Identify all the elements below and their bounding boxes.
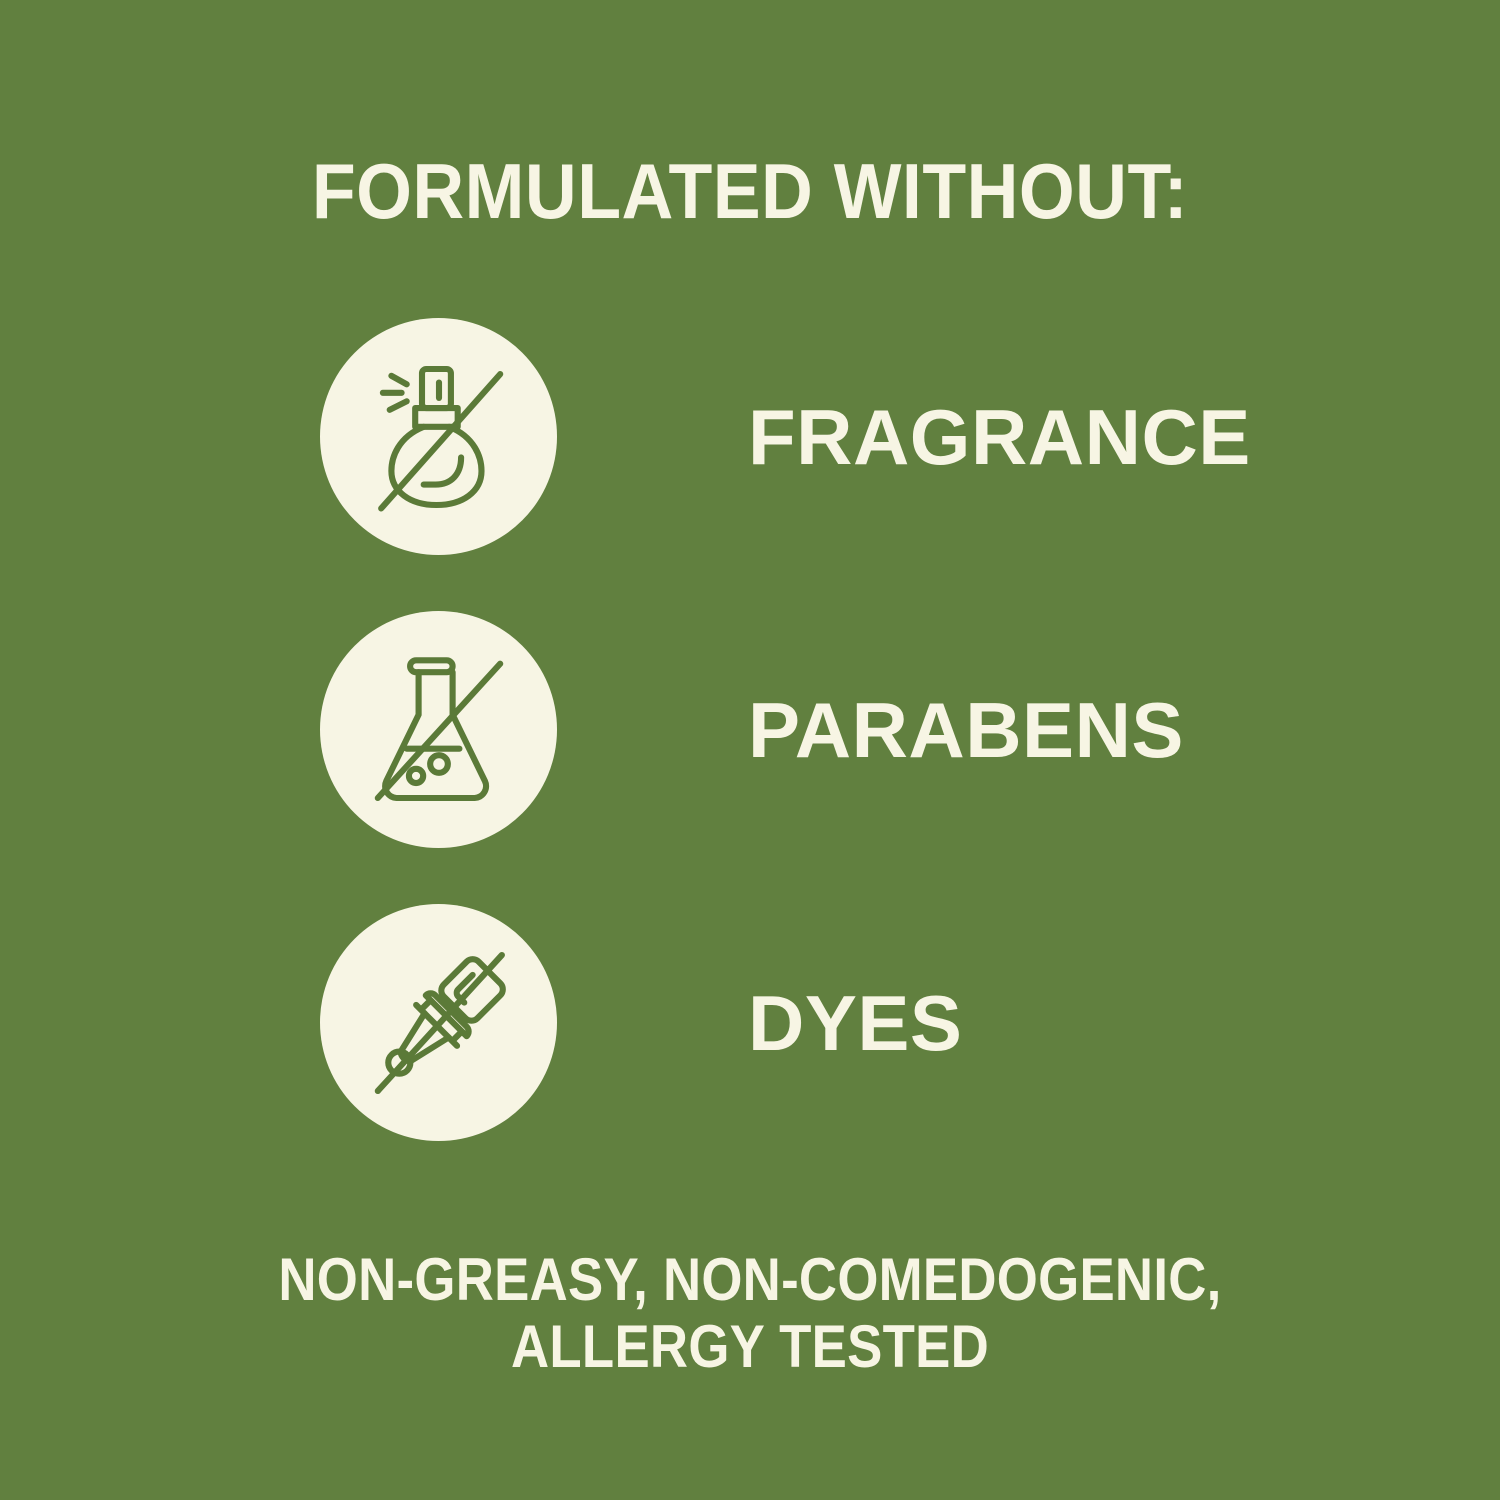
- no-fragrance-spray-bottle-icon: [354, 352, 524, 522]
- icon-badge: [320, 611, 557, 848]
- list-item: PARABENS: [0, 611, 1500, 848]
- no-parabens-flask-icon: [354, 645, 524, 815]
- footer-claims: NON-GREASY, NON-COMEDOGENIC, ALLERGY TES…: [90, 1246, 1410, 1380]
- page-title: FORMULATED WITHOUT:: [60, 152, 1440, 230]
- footer-line-2: ALLERGY TESTED: [90, 1313, 1410, 1380]
- list-item: DYES: [0, 904, 1500, 1141]
- list-item-label: PARABENS: [748, 691, 1184, 769]
- footer-line-1: NON-GREASY, NON-COMEDOGENIC,: [90, 1246, 1410, 1313]
- icon-badge: [320, 318, 557, 555]
- list-item-label: DYES: [748, 984, 962, 1062]
- list-item: FRAGRANCE: [0, 318, 1500, 555]
- formulated-without-infographic: FORMULATED WITHOUT:: [0, 0, 1500, 1500]
- list-item-label: FRAGRANCE: [748, 398, 1251, 476]
- no-dyes-dropper-icon: [354, 938, 524, 1108]
- icon-badge: [320, 904, 557, 1141]
- claims-list: FRAGRANCE: [0, 318, 1500, 1197]
